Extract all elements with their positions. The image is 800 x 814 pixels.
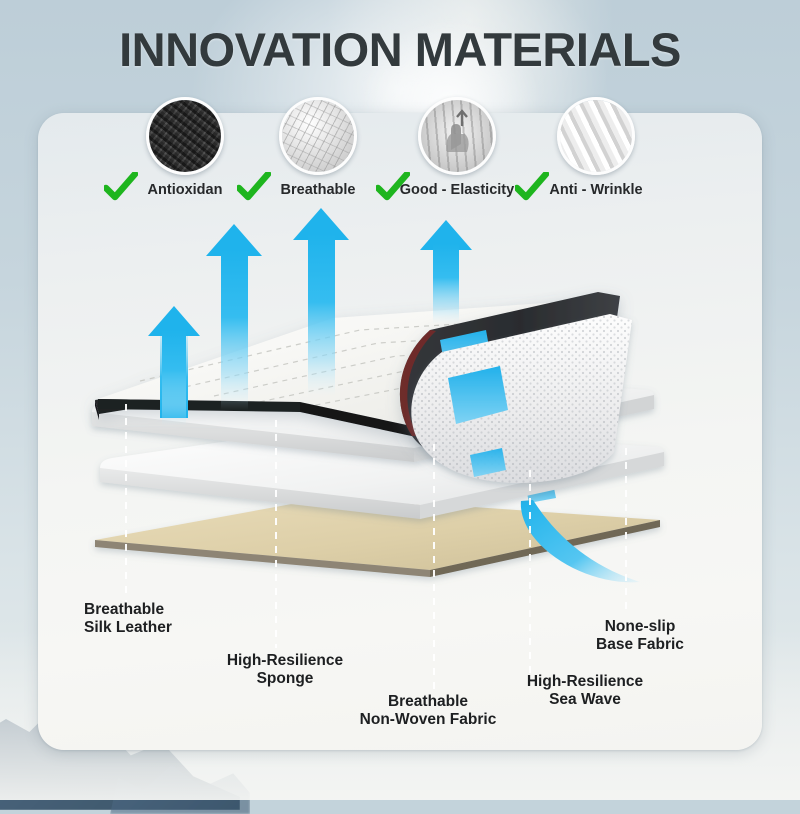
green-check-icon xyxy=(515,172,549,202)
layer-label-line1: Breathable xyxy=(84,601,172,619)
layer-label-line2: Non-Woven Fabric xyxy=(338,711,518,729)
layer-label-line1: None-slip xyxy=(566,618,714,636)
layer-label-line2: Sponge xyxy=(204,670,366,688)
feature-icon-antioxidan xyxy=(146,97,224,175)
green-check-icon xyxy=(237,172,271,202)
layer-label-line2: Sea Wave xyxy=(501,691,669,709)
green-check-icon xyxy=(376,172,410,202)
layer-label-line1: Breathable xyxy=(338,693,518,711)
page-title: INNOVATION MATERIALS xyxy=(0,22,800,77)
green-check-icon xyxy=(104,172,138,202)
feature-badge-good-elasticity[interactable]: Good - Elasticity xyxy=(382,97,532,198)
feature-badge-anti-wrinkle[interactable]: Anti - Wrinkle xyxy=(521,97,671,198)
panel-glow xyxy=(158,263,678,623)
fiber-texture-icon xyxy=(149,100,221,172)
layer-label-silk-leather: Breathable Silk Leather xyxy=(84,601,172,638)
hand-glyph xyxy=(421,100,493,172)
layer-label-sea-wave: High-Resilience Sea Wave xyxy=(501,673,669,710)
layer-label-sponge: High-Resilience Sponge xyxy=(204,652,366,689)
layer-label-line2: Base Fabric xyxy=(566,636,714,654)
layer-label-line1: High-Resilience xyxy=(501,673,669,691)
layer-label-line1: High-Resilience xyxy=(204,652,366,670)
folded-fabric-icon xyxy=(560,100,632,172)
feature-badge-breathable[interactable]: Breathable xyxy=(243,97,393,198)
layer-label-line2: Silk Leather xyxy=(84,619,172,637)
feature-icon-anti-wrinkle xyxy=(557,97,635,175)
feature-icon-breathable xyxy=(279,97,357,175)
feature-icon-good-elasticity xyxy=(418,97,496,175)
mesh-fabric-icon xyxy=(282,100,354,172)
layer-label-base-fabric: None-slip Base Fabric xyxy=(566,618,714,655)
feature-badge-row: Antioxidan Breathable Good - Elasticity xyxy=(0,97,800,207)
layer-label-non-woven-fabric: Breathable Non-Woven Fabric xyxy=(338,693,518,730)
